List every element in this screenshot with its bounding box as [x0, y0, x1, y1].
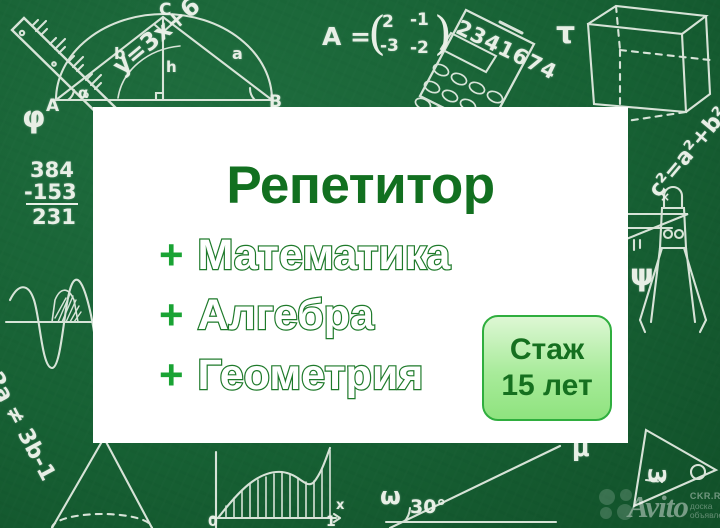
subject-label-algebra: Алгебра	[198, 294, 374, 337]
offer-card: Репетитор + Математика + Алгебра + Геоме…	[93, 107, 628, 443]
riemann-sum-graph	[212, 448, 340, 528]
badge-value-years: 15 лет	[501, 369, 592, 403]
cone-icon	[52, 438, 152, 528]
chalk-integral-axis-one: 1	[326, 514, 336, 528]
chalk-triangle-vertex-a: A	[46, 96, 59, 116]
subject-label-geometry: Геометрия	[198, 354, 424, 397]
chalk-axis-label-x: x	[336, 498, 344, 513]
chalk-digit-three: 3	[642, 468, 670, 485]
plus-icon: +	[159, 354, 184, 396]
chalk-subtraction-result: 231	[32, 205, 76, 229]
chalk-greek-tau: τ	[556, 16, 575, 51]
chalk-triangle-height: h	[166, 58, 177, 76]
chalk-matrix-equation: A =	[322, 22, 371, 51]
chalk-triangle-side-b: b	[114, 44, 125, 63]
chalk-matrix-r1c1: 2	[382, 12, 394, 32]
list-item-math: + Математика	[159, 234, 628, 294]
chalk-integral-axis-zero: 0	[208, 514, 218, 528]
set-square-icon	[618, 214, 688, 250]
chalk-matrix-r1c2: -1	[410, 10, 429, 30]
subject-label-math: Математика	[198, 234, 451, 277]
chalk-triangle-vertex-c: C	[159, 0, 171, 20]
plus-icon: +	[159, 294, 184, 336]
badge-label-experience: Стаж	[510, 333, 584, 367]
cube-icon	[588, 6, 710, 122]
chalk-triangle-angle-alpha: α	[78, 84, 88, 102]
chalk-matrix-r2c1: -3	[380, 36, 399, 56]
chalk-subtraction-subtrahend: -153	[24, 180, 77, 204]
poster-canvas: y=3x+6 φ 384 -153 231 2a ≠ 3b-1 A B C a …	[0, 0, 720, 528]
chalk-greek-psi: ψ	[630, 258, 654, 293]
chalk-matrix-bracket-right: )	[434, 6, 452, 60]
chalk-matrix-r2c2: -2	[410, 38, 429, 58]
chalk-greek-phi: φ	[22, 100, 45, 135]
chalk-angle-label-30: 30°	[410, 496, 446, 518]
chalk-subtraction-minuend: 384	[30, 158, 74, 182]
page-title: Репетитор	[93, 159, 628, 212]
chalk-tick-mark: ×	[660, 190, 670, 204]
chalk-greek-omega: ω	[380, 482, 401, 510]
chalk-triangle-side-a: a	[232, 44, 243, 63]
plus-icon: +	[159, 234, 184, 276]
experience-badge: Стаж 15 лет	[482, 315, 612, 421]
